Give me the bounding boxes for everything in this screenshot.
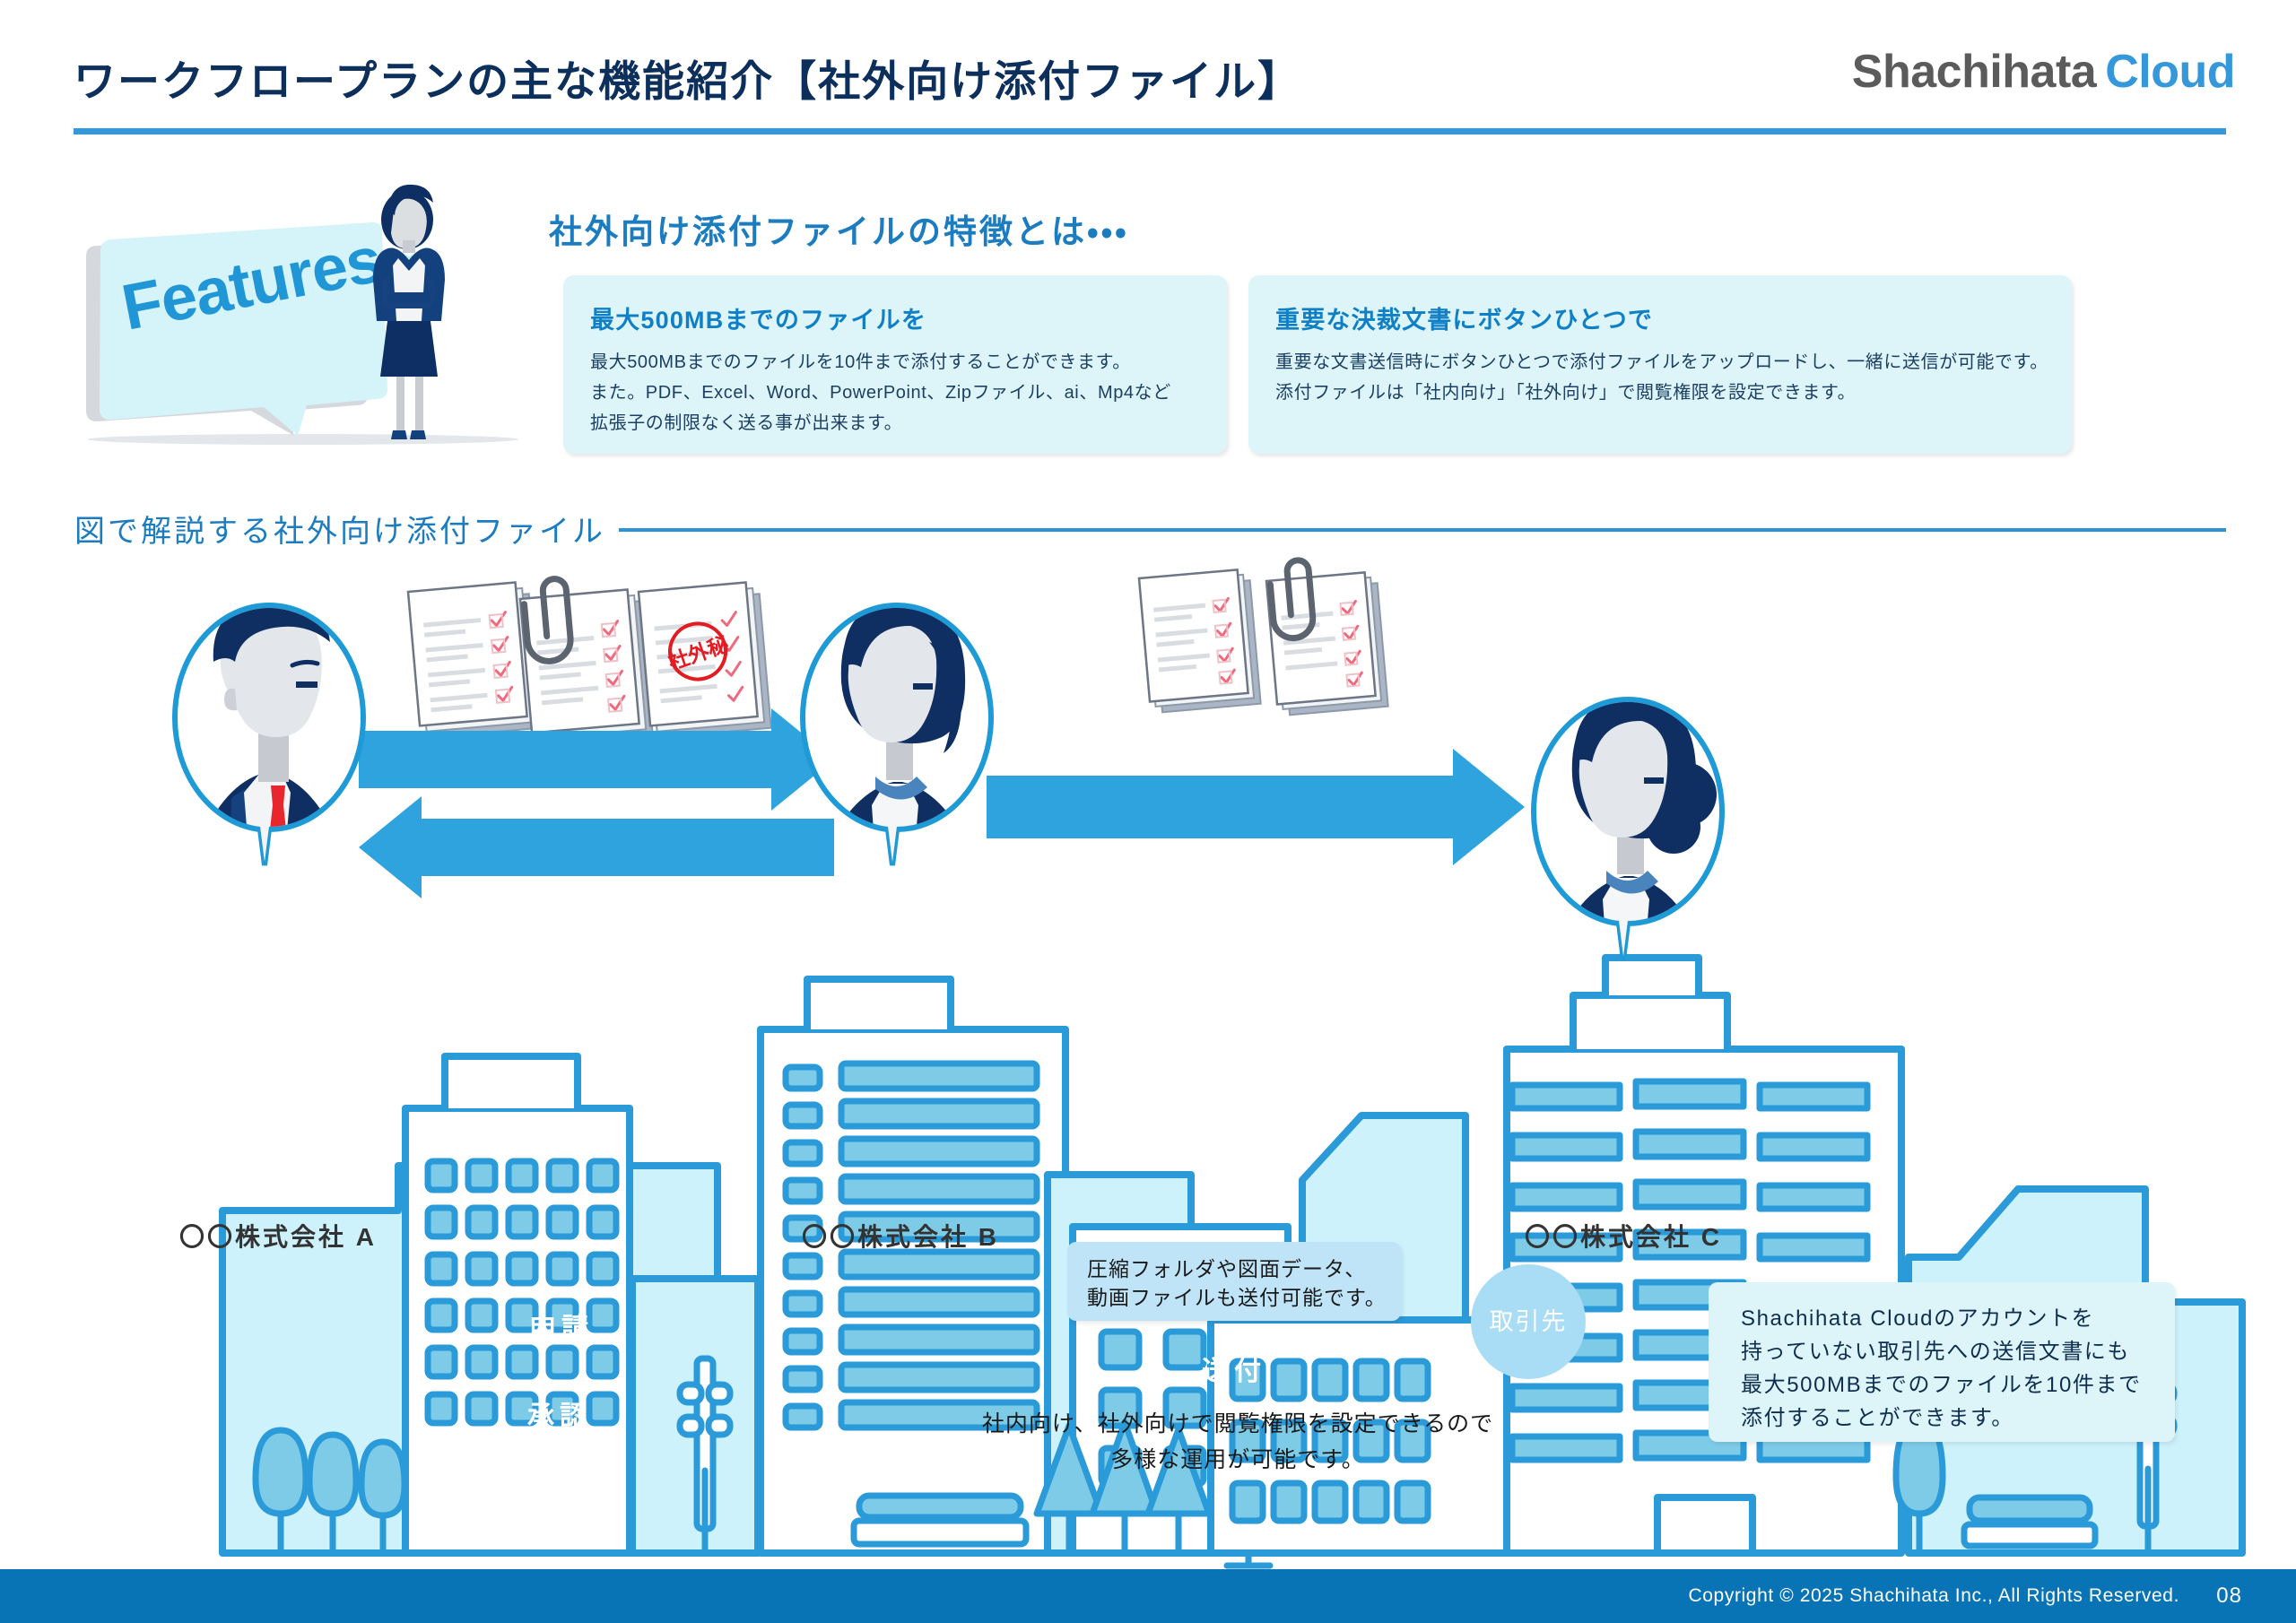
arrow-label-approve: 承認 — [527, 1393, 592, 1433]
company-label-b: 〇〇株式会社 B — [802, 1218, 999, 1254]
note-permissions: 社内向け、社外向けで閲覧権限を設定できるので 多様な運用が可能です。 — [976, 1406, 1500, 1478]
workflow-diagram: 社外秘 — [0, 556, 2296, 1542]
avatar-company-a — [175, 600, 363, 906]
callout-line: 添付することができます。 — [1741, 1402, 2142, 1435]
arrow-send — [987, 749, 1525, 865]
arrow-label-send: 送付 — [1202, 1349, 1266, 1388]
footer-page-number: 08 — [2216, 1584, 2242, 1609]
company-label-a: 〇〇株式会社 A — [179, 1218, 377, 1254]
partner-badge: 取引先 — [1471, 1264, 1586, 1379]
callout-compressed-text: 圧縮フォルダや図面データ、 動画ファイルも送付可能です。 — [1087, 1254, 1387, 1312]
callout-line: 最大500MBまでのファイルを10件まで — [1741, 1368, 2142, 1402]
arrow-label-apply: 申請 — [529, 1306, 594, 1345]
callout-line: 持っていない取引先への送信文書にも — [1741, 1335, 2142, 1368]
callout-compressed-files: 圧縮フォルダや図面データ、 動画ファイルも送付可能です。 — [1067, 1242, 1401, 1321]
document-stack-group-middle — [1139, 553, 1388, 716]
callout-line: 圧縮フォルダや図面データ、 — [1087, 1254, 1387, 1283]
callout-line: 動画ファイルも送付可能です。 — [1087, 1283, 1387, 1312]
page-footer: Copyright © 2025 Shachihata Inc., All Ri… — [0, 1569, 2296, 1623]
document-stack-group-left: 社外秘 — [408, 571, 771, 745]
note-line: 社内向け、社外向けで閲覧権限を設定できるので — [976, 1406, 1500, 1442]
callout-account-text: Shachihata Cloudのアカウントを 持っていない取引先への送信文書に… — [1741, 1302, 2142, 1435]
footer-copyright: Copyright © 2025 Shachihata Inc., All Ri… — [1689, 1585, 2179, 1607]
arrow-approve — [359, 796, 834, 898]
callout-account-note: Shachihata Cloudのアカウントを 持っていない取引先への送信文書に… — [1709, 1282, 2175, 1442]
partner-badge-label: 取引先 — [1471, 1302, 1586, 1337]
note-line: 多様な運用が可能です。 — [976, 1442, 1500, 1478]
avatar-company-c — [1534, 698, 1722, 986]
callout-line: Shachihata Cloudのアカウントを — [1741, 1302, 2142, 1335]
company-label-c: 〇〇株式会社 C — [1525, 1218, 1722, 1254]
